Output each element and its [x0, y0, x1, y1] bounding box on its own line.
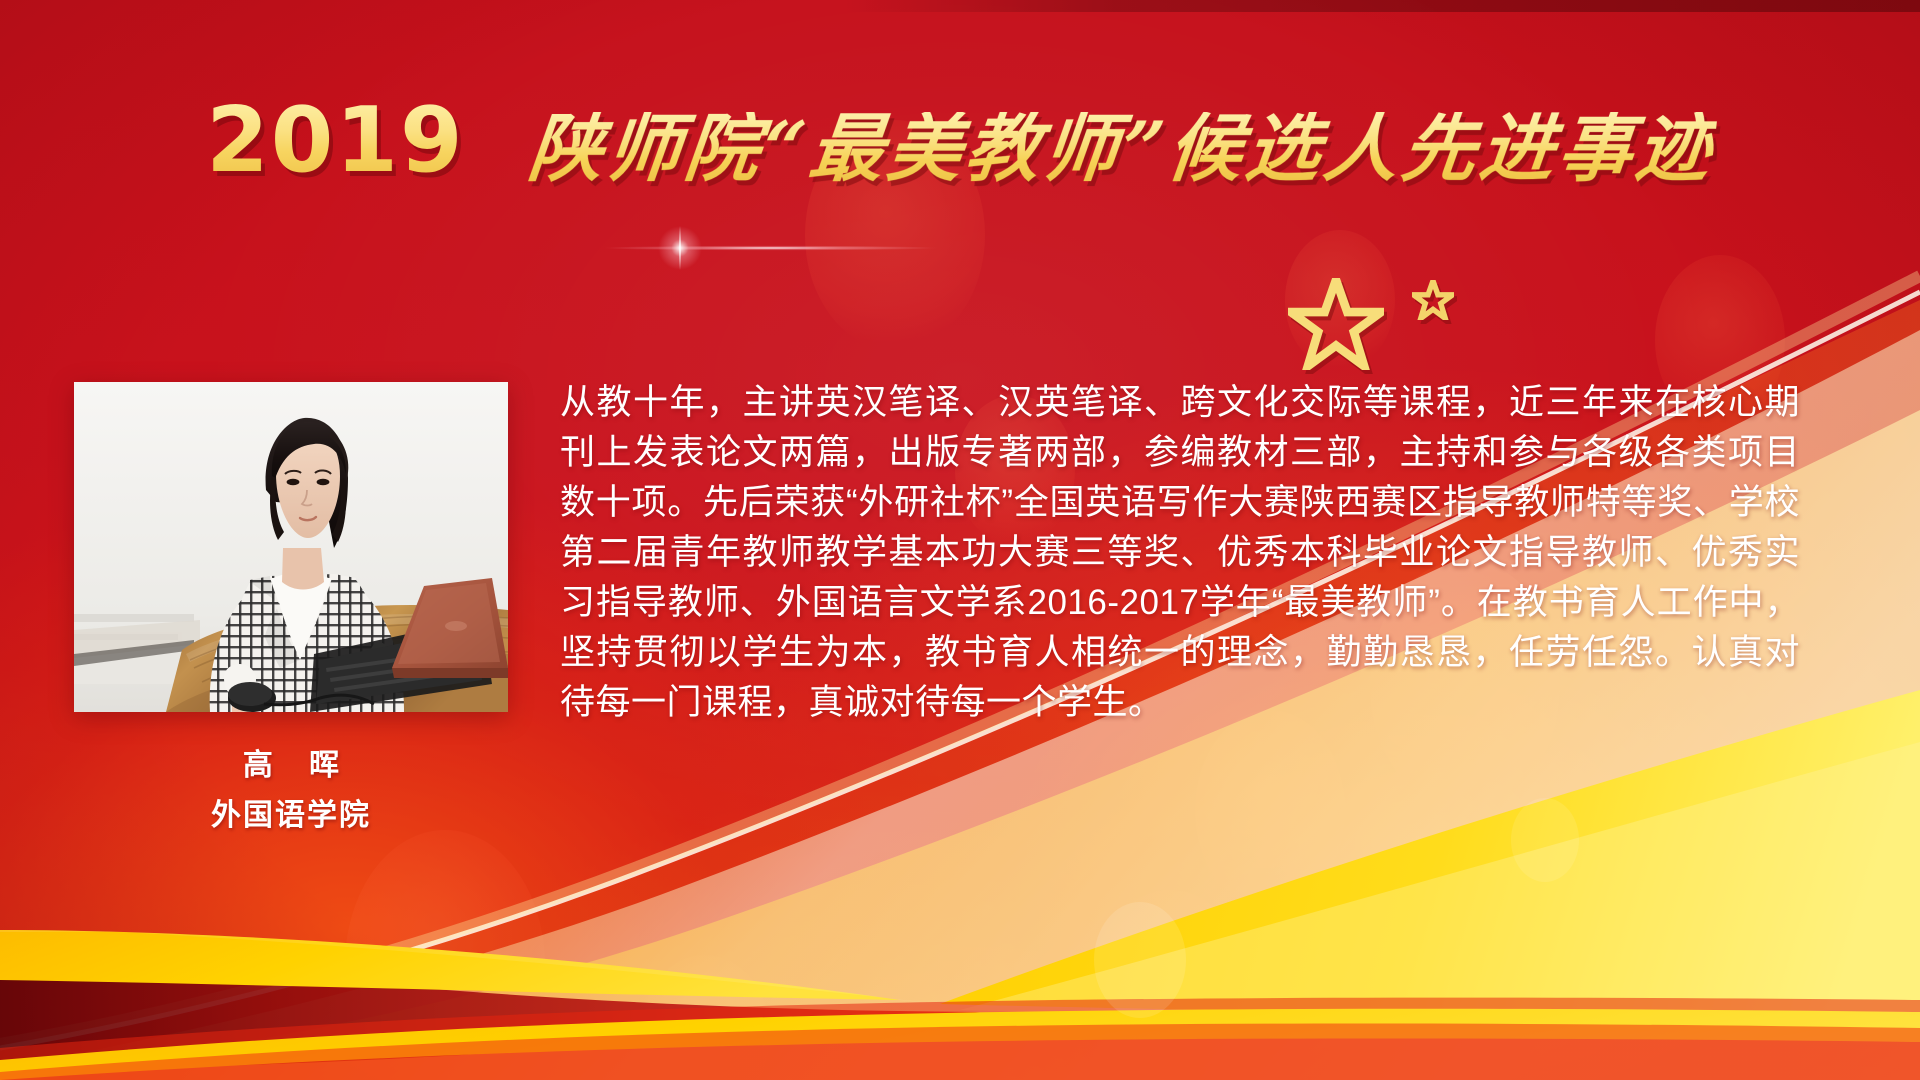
profile-photo	[74, 382, 508, 712]
poster-canvas: 2019 陕师院“最美教师”候选人先进事迹	[0, 0, 1920, 1080]
profile-description: 从教十年，主讲英汉笔译、汉英笔译、跨文化交际等课程，近三年来在核心期刊上发表论文…	[560, 378, 1800, 728]
profile-photo-frame	[74, 382, 508, 712]
profile-name: 高 晖	[74, 740, 508, 784]
profile-department: 外国语学院	[74, 790, 508, 834]
